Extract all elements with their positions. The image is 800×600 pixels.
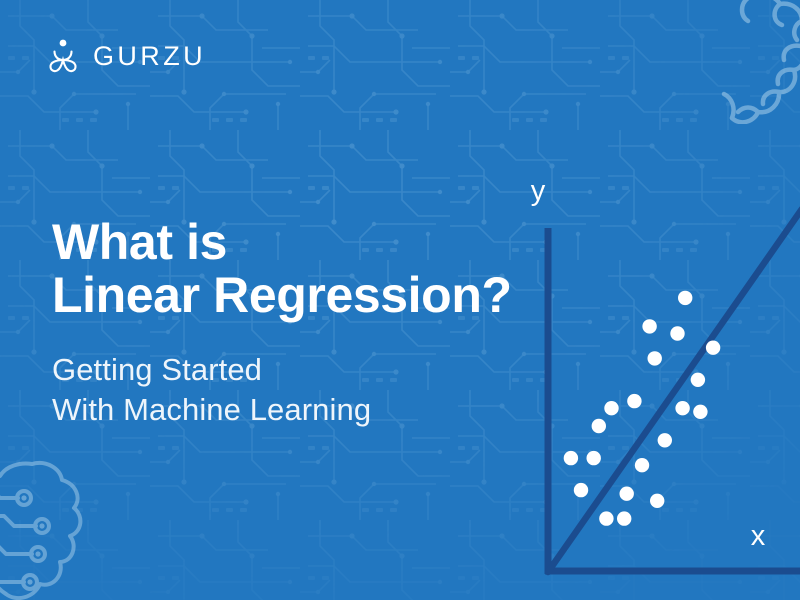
scatter-point (675, 401, 689, 415)
scatter-point (564, 451, 578, 465)
brand-logo[interactable]: GURZU (46, 38, 206, 74)
y-axis-label: y (531, 175, 546, 207)
poster-canvas: GURZU What is Linear Regression? Getting… (0, 0, 800, 600)
scatter-point (706, 341, 720, 355)
scatter-point (648, 351, 662, 365)
scatter-points-group (564, 291, 721, 526)
scatter-point (604, 401, 618, 415)
scatter-point (670, 326, 684, 340)
scatter-point (620, 487, 634, 501)
scatter-point (650, 494, 664, 508)
page-title: What is Linear Regression? (52, 216, 572, 322)
scatter-plot-svg: y x (500, 160, 800, 600)
scatter-point (617, 511, 631, 525)
scatter-plot: y x (500, 160, 800, 600)
scatter-point (599, 511, 613, 525)
scatter-point (691, 373, 705, 387)
regression-line (548, 209, 800, 572)
brain-outline-icon (696, 0, 800, 124)
scatter-point (587, 451, 601, 465)
x-axis-label: x (751, 520, 766, 552)
page-subtitle: Getting Started With Machine Learning (52, 350, 572, 429)
scatter-point (635, 458, 649, 472)
scatter-point (574, 483, 588, 497)
scatter-point (592, 419, 606, 433)
scatter-point (693, 405, 707, 419)
scatter-point (658, 433, 672, 447)
brand-name: GURZU (93, 43, 206, 70)
scatter-point (627, 394, 641, 408)
scatter-point (678, 291, 692, 305)
hero-text-block: What is Linear Regression? Getting Start… (52, 216, 572, 429)
scatter-point (642, 319, 656, 333)
gurzu-meditation-infinity-icon (46, 38, 80, 74)
circuit-brain-icon (0, 458, 86, 600)
